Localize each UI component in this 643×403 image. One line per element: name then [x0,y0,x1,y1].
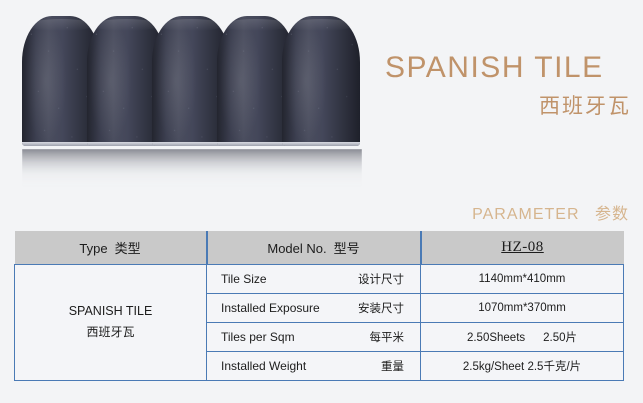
row-value-cn: 2.50片 [543,329,577,345]
model-code-value: HZ-08 [501,239,544,255]
column-header-type-en: Type [79,241,107,256]
tile-barrel [282,16,360,146]
type-cell-chinese: 西班牙瓦 [15,323,206,340]
row-value-cn: 2.5千克/片 [527,358,581,374]
row-value-tiles-per-sqm: 2.50Sheets2.50片 [421,322,624,351]
row-value-installed-exposure: 1070mm*370mm [421,293,624,322]
table-header-row: Type类型 Model No.型号 HZ-08 [15,231,624,264]
type-cell-english: SPANISH TILE [15,304,206,318]
row-label-en: Tile Size [221,272,267,286]
tile-reflection [22,149,362,191]
type-cell: SPANISH TILE 西班牙瓦 [15,264,207,380]
parameter-heading: PARAMETER 参数 [472,200,629,224]
page-title-chinese: 西班牙瓦 [385,90,635,120]
table-row: SPANISH TILE 西班牙瓦 Tile Size 设计尺寸 1140mm*… [15,264,624,293]
row-label-installed-exposure: Installed Exposure 安装尺寸 [207,293,421,322]
parameter-heading-english: PARAMETER [472,206,579,223]
row-label-cn: 每平米 [370,329,407,345]
product-title: SPANISH TILE 西班牙瓦 [385,52,635,120]
specification-table: Type类型 Model No.型号 HZ-08 SPANISH TILE 西班… [14,231,624,381]
column-header-model-code: HZ-08 [421,231,624,264]
row-label-en: Tiles per Sqm [221,330,295,344]
column-header-type-cn: 类型 [115,241,141,256]
column-header-model: Model No.型号 [207,231,421,264]
column-header-model-en: Model No. [267,241,326,256]
row-label-en: Installed Weight [221,359,306,373]
column-header-type: Type类型 [15,231,207,264]
column-header-model-cn: 型号 [334,241,360,256]
row-label-tile-size: Tile Size 设计尺寸 [207,264,421,293]
row-label-cn: 设计尺寸 [358,271,406,287]
row-value-tile-size: 1140mm*410mm [421,264,624,293]
row-label-en: Installed Exposure [221,301,320,315]
row-label-tiles-per-sqm: Tiles per Sqm 每平米 [207,322,421,351]
page-title-english: SPANISH TILE [385,52,635,84]
product-image [22,16,362,191]
row-value-en: 2.50Sheets [467,332,525,344]
tile-lip [282,142,360,146]
row-label-cn: 安装尺寸 [358,300,406,316]
parameter-heading-chinese: 参数 [595,206,629,223]
row-value-en: 1140mm*410mm [479,273,566,285]
tile-stack [22,16,362,146]
row-label-installed-weight: Installed Weight 重量 [207,351,421,380]
row-value-en: 1070mm*370mm [478,302,566,314]
row-value-en: 2.5kg/Sheet [463,361,524,373]
row-value-installed-weight: 2.5kg/Sheet 2.5千克/片 [421,351,624,380]
row-label-cn: 重量 [381,358,406,374]
